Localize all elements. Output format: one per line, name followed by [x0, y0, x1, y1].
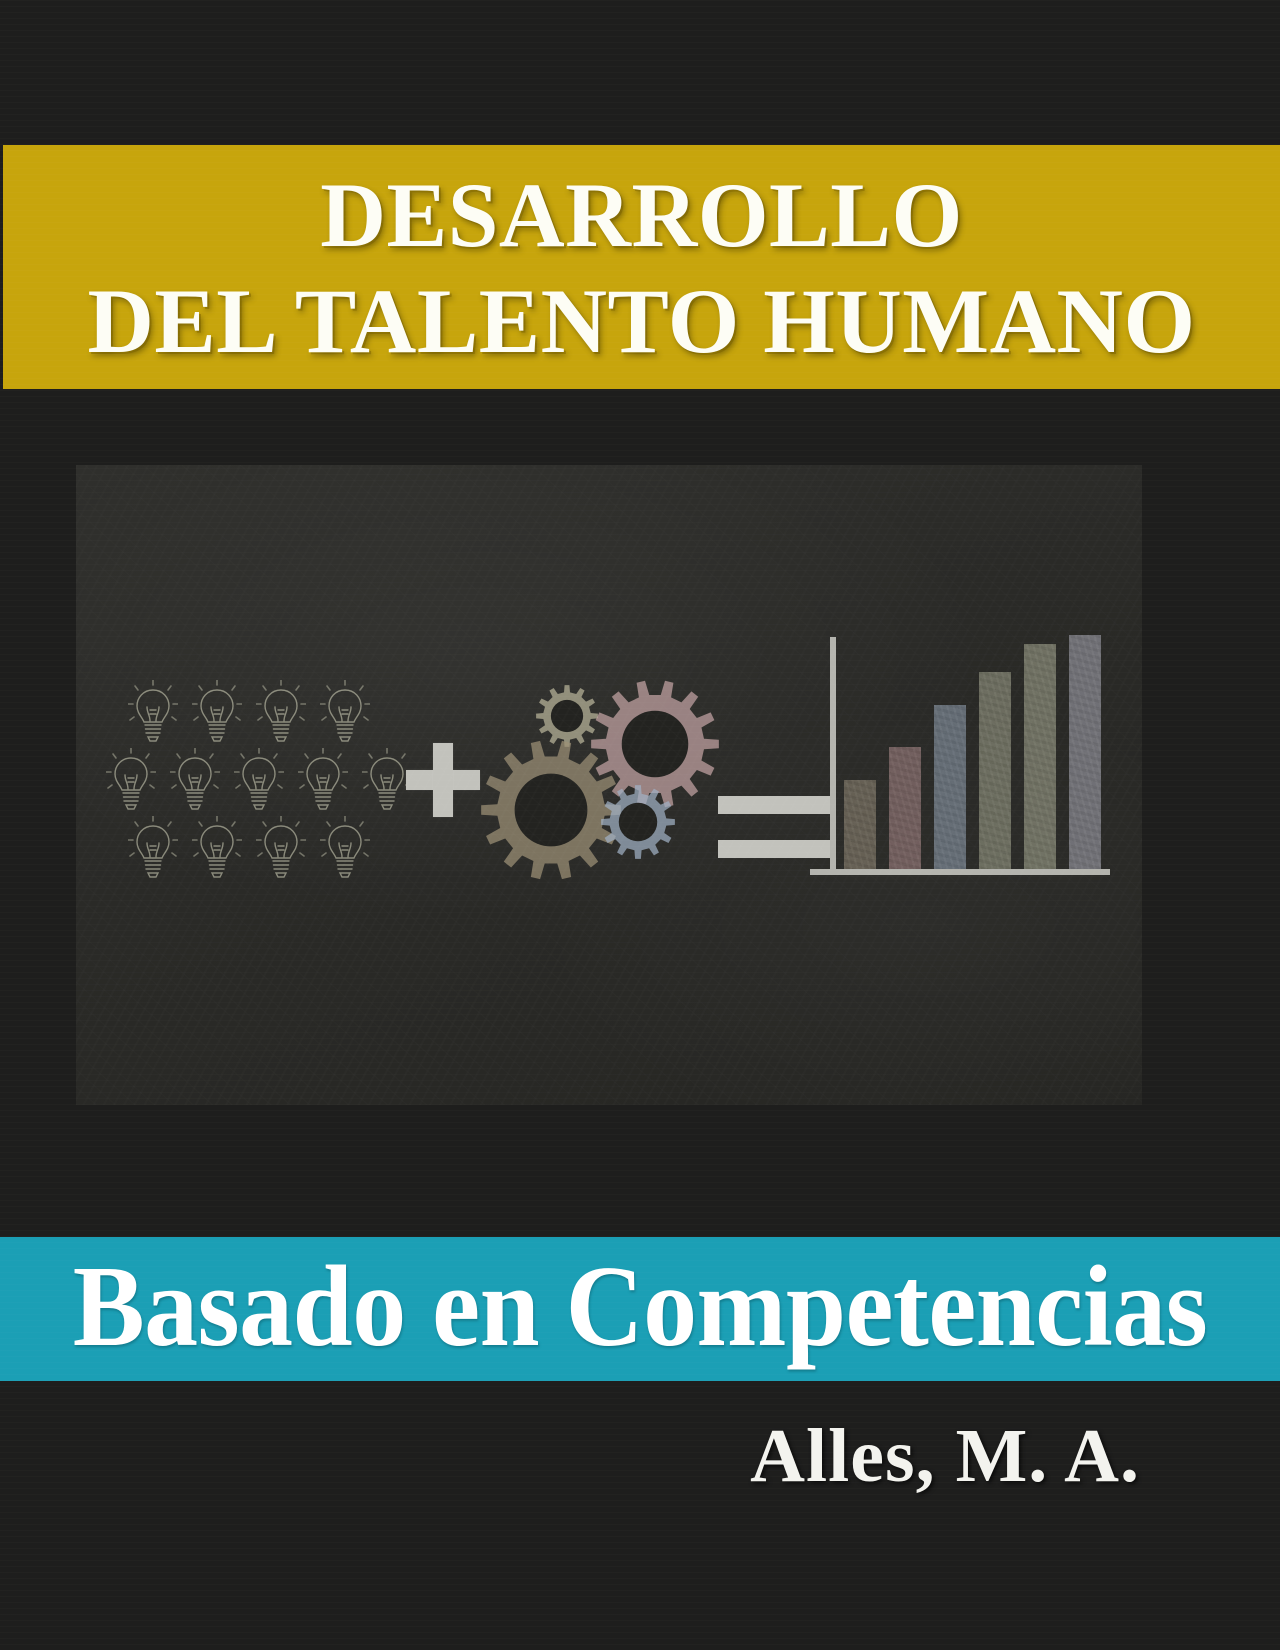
- lightbulb-row: [128, 680, 370, 746]
- title-band: DESARROLLO DEL TALENTO HUMANO: [3, 145, 1280, 389]
- page-title-line-2: DEL TALENTO HUMANO: [87, 275, 1195, 369]
- chart-y-axis: [830, 637, 836, 869]
- chart-bar: [1024, 644, 1056, 869]
- lightbulb-icon: [234, 748, 284, 814]
- subtitle-band: Basado en Competencias: [0, 1237, 1280, 1381]
- lightbulb-icon: [362, 748, 412, 814]
- lightbulb-icon: [192, 816, 242, 882]
- lightbulb-icon: [170, 748, 220, 814]
- lightbulb-icon: [298, 748, 348, 814]
- bar-chart: [796, 635, 1126, 885]
- lightbulb-icon: [256, 680, 306, 746]
- chart-bar: [1069, 635, 1101, 869]
- lightbulb-icon: [128, 816, 178, 882]
- gear-small-blue-icon: [601, 785, 675, 864]
- plus-icon: [406, 743, 480, 817]
- lightbulb-cluster: [106, 680, 416, 880]
- page-title-line-1: DESARROLLO: [320, 169, 963, 263]
- chart-bar: [889, 747, 921, 869]
- chart-bar: [934, 705, 966, 869]
- lightbulb-row: [106, 748, 412, 814]
- lightbulb-icon: [106, 748, 156, 814]
- chart-bar: [844, 780, 876, 869]
- author-name: Alles, M. A.: [750, 1418, 1140, 1494]
- lightbulb-icon: [256, 816, 306, 882]
- gear-large-khaki-icon: [481, 740, 621, 885]
- gear-cluster: [481, 680, 711, 880]
- chart-x-axis: [810, 869, 1110, 875]
- lightbulb-icon: [128, 680, 178, 746]
- book-cover: DESARROLLO DEL TALENTO HUMANO: [0, 0, 1280, 1650]
- subtitle-text: Basado en Competencias: [73, 1249, 1208, 1365]
- lightbulb-row: [128, 816, 370, 882]
- lightbulb-icon: [320, 816, 370, 882]
- chalkboard-illustration: [76, 465, 1142, 1105]
- chart-bars: [844, 635, 1114, 869]
- lightbulb-icon: [192, 680, 242, 746]
- chart-bar: [979, 672, 1011, 869]
- lightbulb-icon: [320, 680, 370, 746]
